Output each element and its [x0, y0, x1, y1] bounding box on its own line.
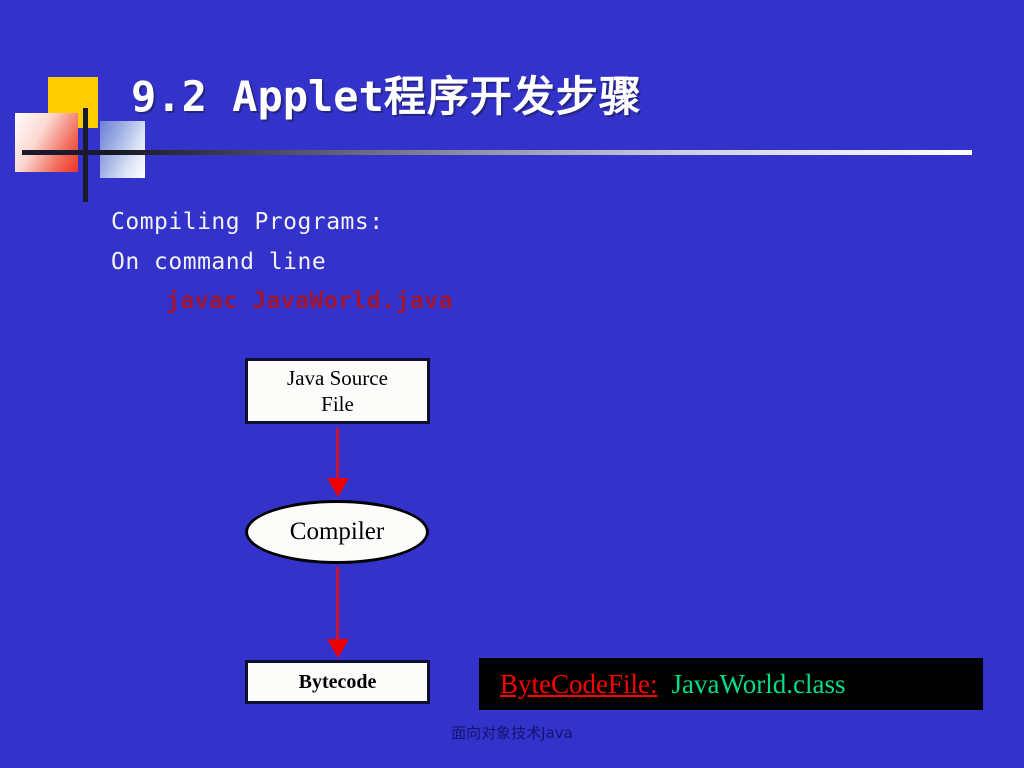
- arrow-head-icon: [327, 478, 349, 497]
- command-code-javac: javac JavaWorld.java: [166, 288, 453, 314]
- bytecode-file-banner: ByteCodeFile: JavaWorld.class: [479, 658, 983, 710]
- diagram-node-source-label-line1: Java Source: [287, 366, 388, 390]
- slide-footer: 面向对象技术Java: [0, 722, 1024, 743]
- page-title-latin: Applet: [232, 72, 384, 121]
- decoration-vertical-line: [83, 108, 88, 202]
- page-title-cjk: 程序开发步骤: [384, 72, 642, 121]
- page-title: 9.2 Applet程序开发步骤: [131, 72, 642, 122]
- diagram-node-bytecode-label: Bytecode: [299, 671, 377, 694]
- diagram-node-source-label-line2: File: [321, 392, 354, 416]
- diagram-arrow-source-to-compiler: [327, 428, 349, 498]
- arrow-head-icon: [327, 639, 349, 658]
- body-line-compiling-programs: Compiling Programs:: [111, 209, 384, 235]
- decoration-horizontal-line-stub: [22, 150, 104, 155]
- title-underline-rule: [104, 150, 972, 155]
- banner-value-label: JavaWorld.class: [672, 669, 846, 700]
- decoration-red-gradient-square: [15, 113, 78, 172]
- slide-canvas: 9.2 Applet程序开发步骤 Compiling Programs: On …: [0, 0, 1024, 768]
- arrow-shaft: [336, 428, 339, 479]
- diagram-node-compiler: Compiler: [245, 500, 429, 564]
- page-title-number: 9.2: [131, 72, 232, 121]
- diagram-arrow-compiler-to-bytecode: [327, 567, 349, 659]
- diagram-node-java-source-file: Java Source File: [245, 358, 430, 424]
- diagram-node-bytecode: Bytecode: [245, 660, 430, 704]
- diagram-node-compiler-label: Compiler: [290, 518, 384, 546]
- arrow-shaft: [336, 567, 339, 640]
- banner-key-label: ByteCodeFile:: [500, 669, 658, 700]
- body-line-on-command-line: On command line: [111, 249, 326, 275]
